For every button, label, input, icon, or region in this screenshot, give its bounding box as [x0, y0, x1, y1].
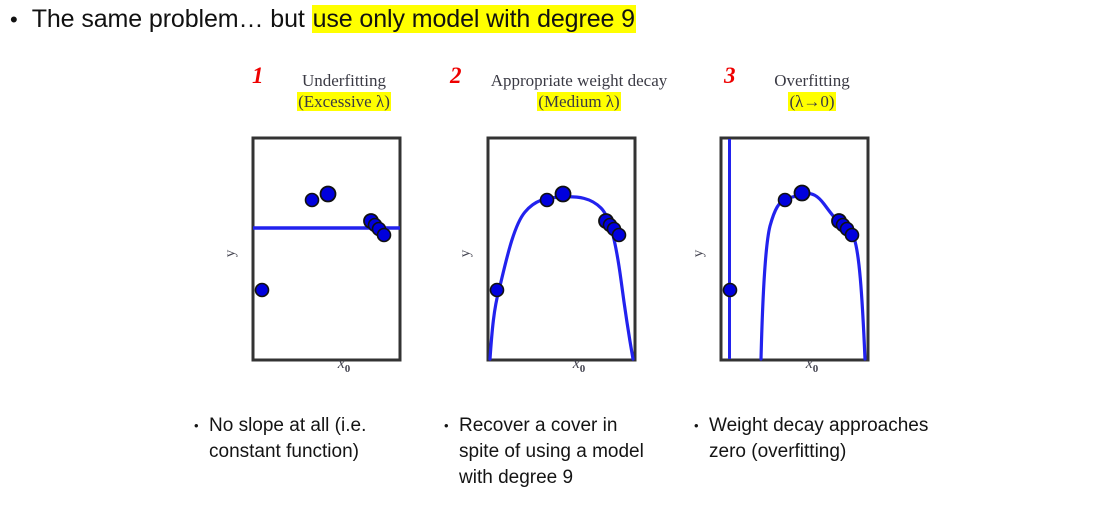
panel-1-axes-frame — [253, 138, 400, 360]
panel-3-x-axis-label: x0 — [682, 355, 942, 375]
caption-row: • No slope at all (i.e. constant functio… — [0, 413, 1108, 513]
panel-1-heading: 1 Underfitting (Excessive λ) — [214, 70, 474, 112]
panel-2-heading-line1: 2 Appropriate weight decay — [449, 70, 709, 91]
panel-1-title-text: Underfitting — [302, 71, 386, 90]
caption-underfitting: • No slope at all (i.e. constant functio… — [194, 413, 389, 465]
panel-1-heading-line2: (Excessive λ) — [214, 91, 474, 112]
panel-1-lambda-label: (Excessive λ) — [297, 92, 391, 111]
caption-1-bullet-icon: • — [194, 413, 199, 439]
panel-2-heading-line2: (Medium λ) — [449, 91, 709, 112]
panel-1-plot: y x0 — [214, 130, 474, 380]
panel-2-svg — [449, 130, 709, 380]
panel-2-title-text: Appropriate weight decay — [491, 71, 668, 90]
panel-3-heading-line2: (λ→0) — [682, 91, 942, 112]
panel-overfitting: 3 Overfitting (λ→0) — [682, 70, 942, 400]
figure-area: 1 Underfitting (Excessive λ) — [0, 70, 1108, 400]
panel-1-svg — [214, 130, 474, 380]
panel-1-y-axis-label: y — [222, 250, 239, 258]
panel-2-heading: 2 Appropriate weight decay (Medium λ) — [449, 70, 709, 112]
panel-2-y-axis-label: y — [457, 250, 474, 258]
caption-2-bullet-icon: • — [444, 413, 449, 439]
panel-3-lambda-label: (λ→0) — [788, 92, 835, 111]
panel-1-x-axis-label: x0 — [214, 355, 474, 375]
caption-3-bullet-icon: • — [694, 413, 699, 439]
panel-appropriate-weight-decay: 2 Appropriate weight decay (Medium λ) — [449, 70, 709, 400]
panel-1-heading-line1: 1 Underfitting — [214, 70, 474, 91]
caption-3-text: Weight decay approaches zero (overfittin… — [709, 413, 954, 465]
panel-2-x-axis-label: x0 — [449, 355, 709, 375]
panel-3-title-text: Overfitting — [774, 71, 850, 90]
red-annotation-number-3: 3 — [724, 65, 736, 86]
caption-appropriate-weight-decay: • Recover a cover in spite of using a mo… — [444, 413, 654, 491]
red-annotation-number-1: 1 — [252, 65, 264, 86]
panel-3-heading-line1: 3 Overfitting — [682, 70, 942, 91]
red-annotation-number-2: 2 — [450, 65, 462, 86]
caption-overfitting: • Weight decay approaches zero (overfitt… — [694, 413, 954, 465]
panel-2-lambda-label: (Medium λ) — [537, 92, 620, 111]
panel-3-svg — [682, 130, 942, 380]
panel-3-plot: y x0 — [682, 130, 942, 380]
caption-1-text: No slope at all (i.e. constant function) — [209, 413, 389, 465]
title-plain-text: The same problem… but — [32, 5, 312, 33]
panel-3-axes-frame — [721, 138, 868, 360]
panel-underfitting: 1 Underfitting (Excessive λ) — [214, 70, 474, 400]
panel-2-plot: y x0 — [449, 130, 709, 380]
page-title: The same problem… but use only model wit… — [32, 4, 636, 34]
slide-title-bullet: • The same problem… but use only model w… — [10, 4, 1090, 34]
panel-3-heading: 3 Overfitting (λ→0) — [682, 70, 942, 112]
panel-3-y-axis-label: y — [690, 250, 707, 258]
bullet-icon: • — [10, 9, 18, 31]
title-highlighted-text: use only model with degree 9 — [312, 5, 636, 33]
caption-2-text: Recover a cover in spite of using a mode… — [459, 413, 654, 491]
